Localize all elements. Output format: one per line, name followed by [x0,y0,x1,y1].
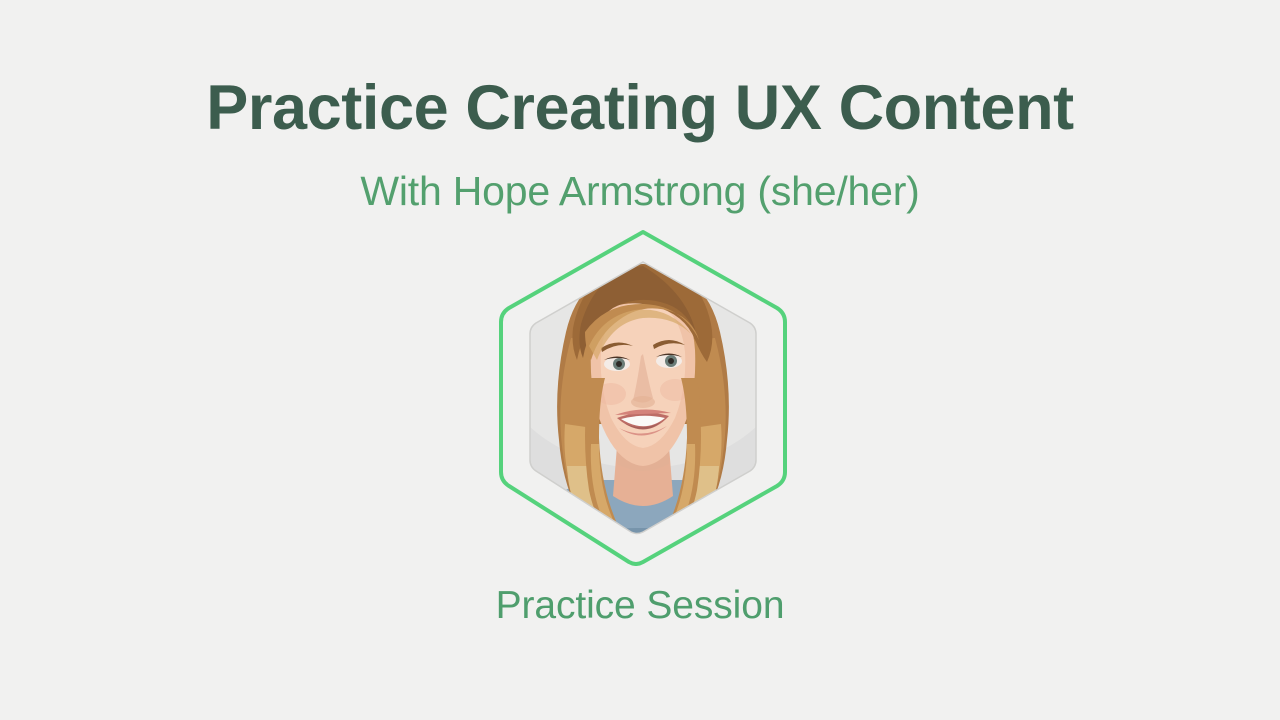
avatar-photo [493,228,793,566]
avatar [493,228,793,566]
presentation-slide: Practice Creating UX Content With Hope A… [0,0,1280,720]
presenter-subtitle: With Hope Armstrong (she/her) [0,166,1280,216]
session-type-caption: Practice Session [0,582,1280,630]
page-title: Practice Creating UX Content [0,72,1280,144]
